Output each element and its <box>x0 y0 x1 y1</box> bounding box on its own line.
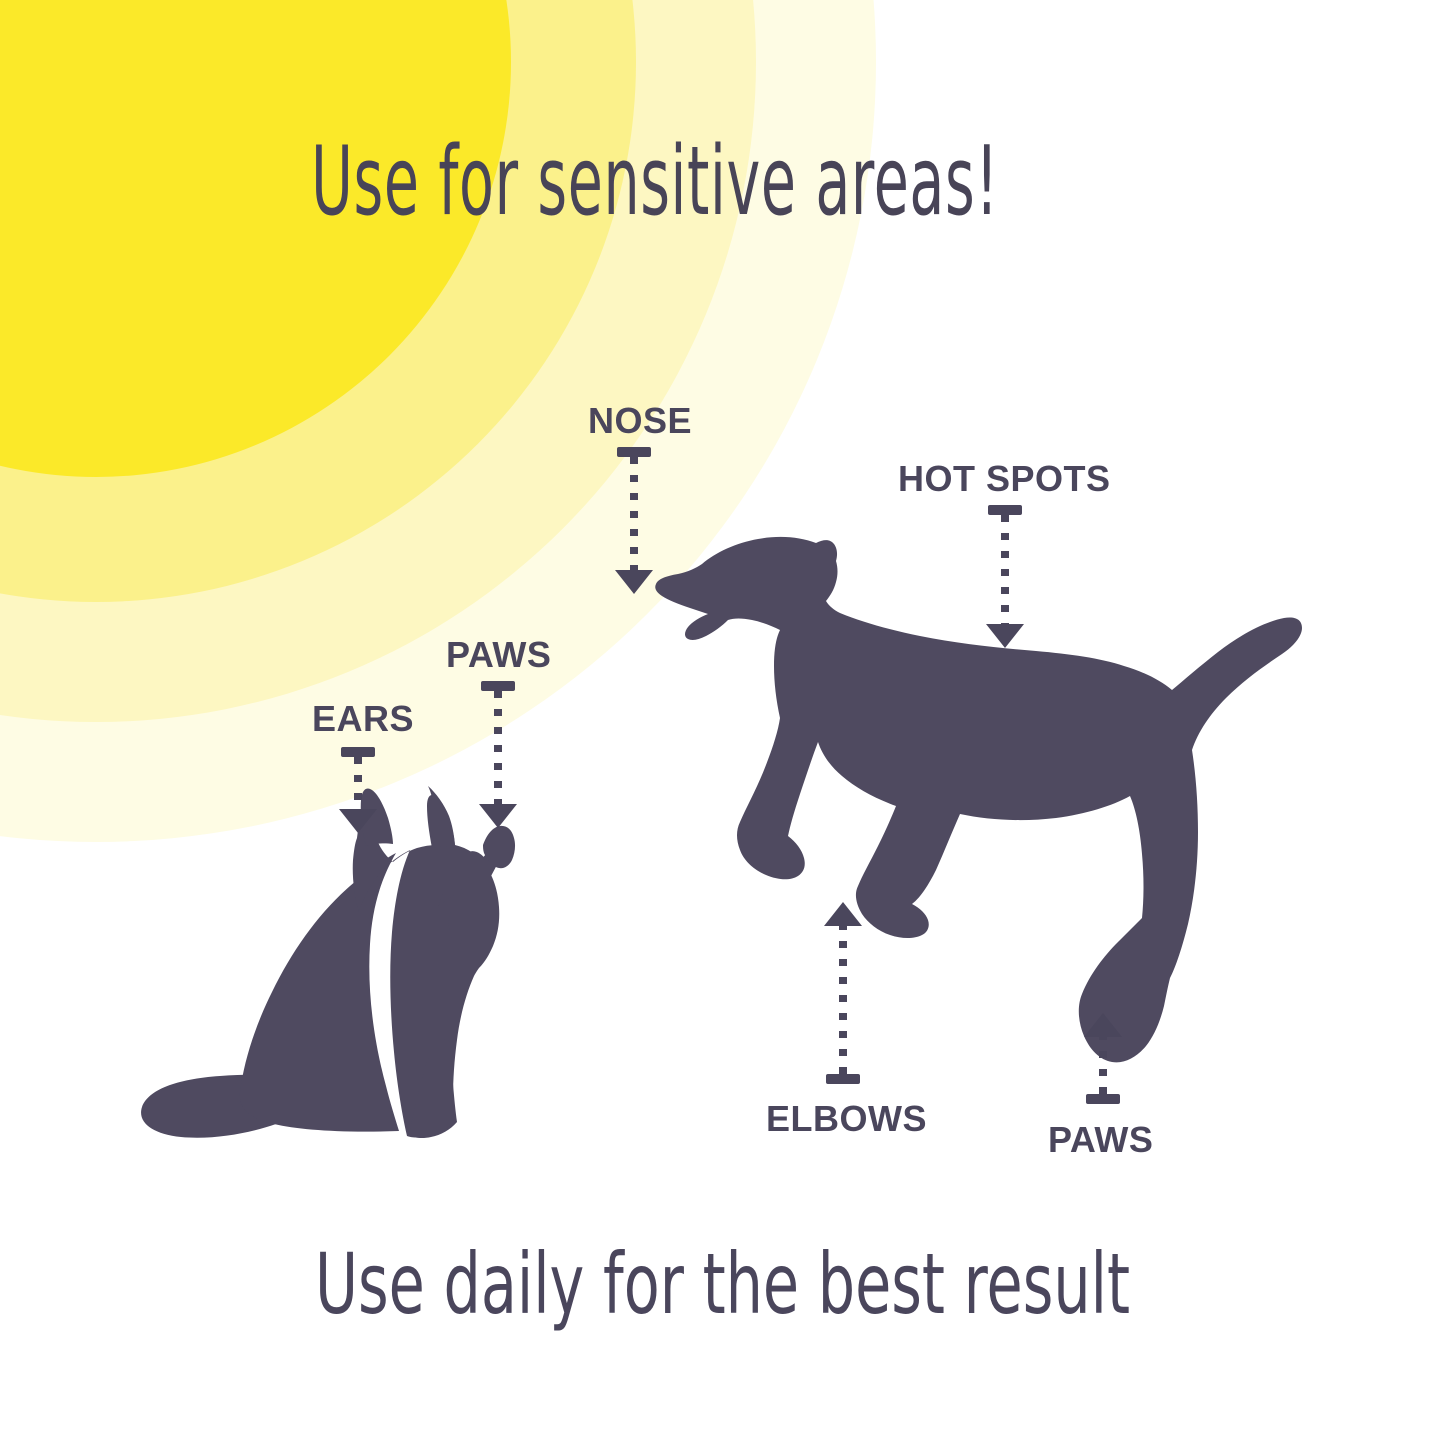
animal-silhouettes <box>0 0 1445 1445</box>
callout-label-nose: NOSE <box>588 403 692 439</box>
callout-label-paws-cat: PAWS <box>446 637 551 673</box>
callout-label-ears: EARS <box>312 701 414 737</box>
cat-silhouette <box>141 786 515 1138</box>
callout-label-elbows: ELBOWS <box>766 1101 927 1137</box>
footer-tagline: Use daily for the best result <box>217 1240 1229 1328</box>
callout-label-paws-dog: PAWS <box>1048 1122 1153 1158</box>
dog-silhouette <box>655 537 1302 1062</box>
poster-canvas: Use for sensitive areas! <box>0 0 1445 1445</box>
artboard: Use for sensitive areas! <box>0 0 1445 1445</box>
callout-label-hot-spots: HOT SPOTS <box>898 461 1111 497</box>
